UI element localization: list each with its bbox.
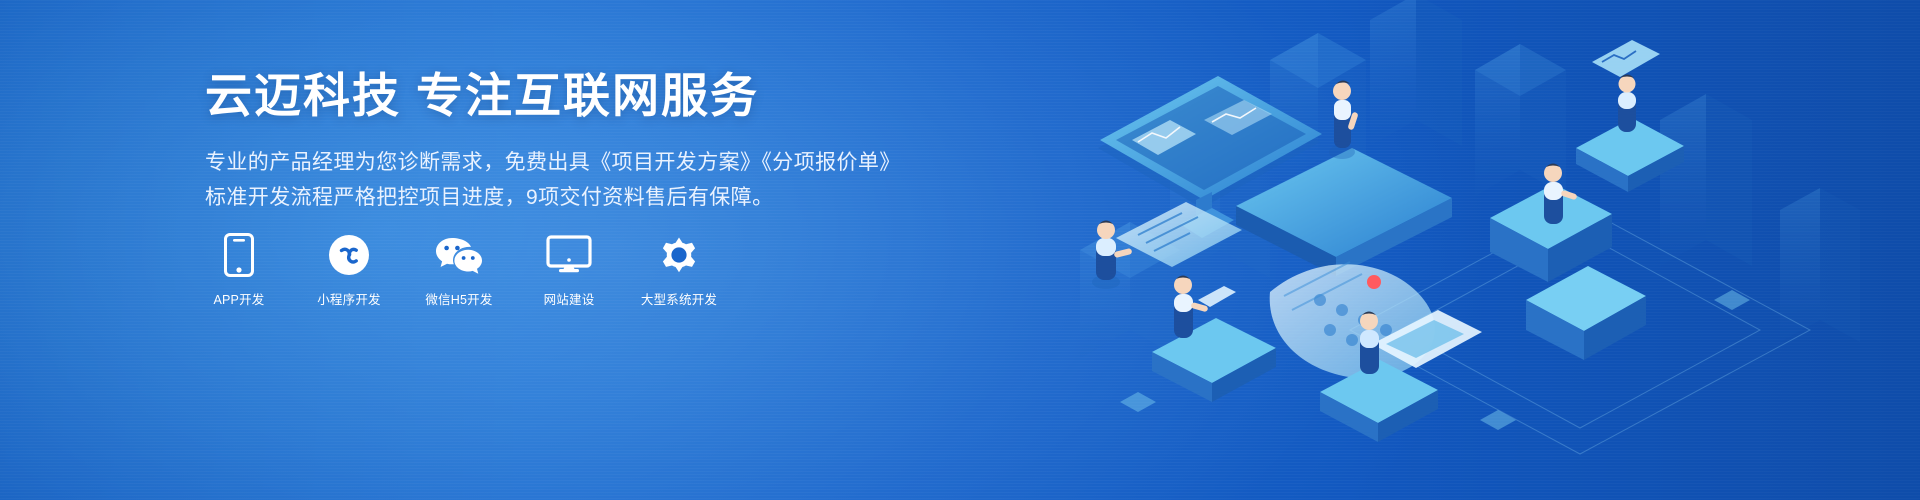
service-list: APP开发 小程序开发	[205, 232, 713, 308]
gear-icon	[657, 232, 701, 278]
page-title: 云迈科技 专注互联网服务	[205, 68, 925, 123]
subtitle-line-1: 专业的产品经理为您诊断需求，免费出具《项目开发方案》《分项报价单》	[205, 146, 925, 180]
banner-subtitle: 专业的产品经理为您诊断需求，免费出具《项目开发方案》《分项报价单》 标准开发流程…	[205, 146, 925, 215]
monitor-icon	[546, 232, 592, 278]
service-item-miniprogram[interactable]: 小程序开发	[315, 232, 383, 308]
service-item-website[interactable]: 网站建设	[535, 232, 603, 308]
service-label-app: APP开发	[213, 289, 264, 308]
service-label-wechat: 微信H5开发	[425, 289, 492, 308]
service-item-app[interactable]: APP开发	[205, 232, 273, 308]
wechat-icon	[434, 232, 484, 278]
subtitle-line-2: 标准开发流程严格把控项目进度，9项交付资料售后有保障。	[205, 181, 925, 215]
service-label-miniprogram: 小程序开发	[317, 289, 381, 308]
worker-figure-lower-right	[1360, 312, 1379, 375]
service-label-system: 大型系统开发	[641, 289, 717, 308]
isometric-tech-team-illustration	[1020, 0, 1920, 500]
service-item-system[interactable]: 大型系统开发	[645, 232, 713, 308]
hero-banner: 云迈科技 专注互联网服务 专业的产品经理为您诊断需求，免费出具《项目开发方案》《…	[0, 0, 1920, 500]
mobile-phone-icon	[224, 232, 254, 278]
server-blocks	[1490, 184, 1646, 360]
worker-figure-top-right	[1618, 75, 1636, 133]
service-label-website: 网站建设	[544, 289, 595, 308]
mini-program-icon	[328, 232, 370, 278]
banner-content: 云迈科技 专注互联网服务 专业的产品经理为您诊断需求，免费出具《项目开发方案》《…	[205, 68, 925, 216]
floating-panel	[1592, 40, 1660, 77]
service-item-wechat[interactable]: 微信H5开发	[425, 232, 493, 308]
